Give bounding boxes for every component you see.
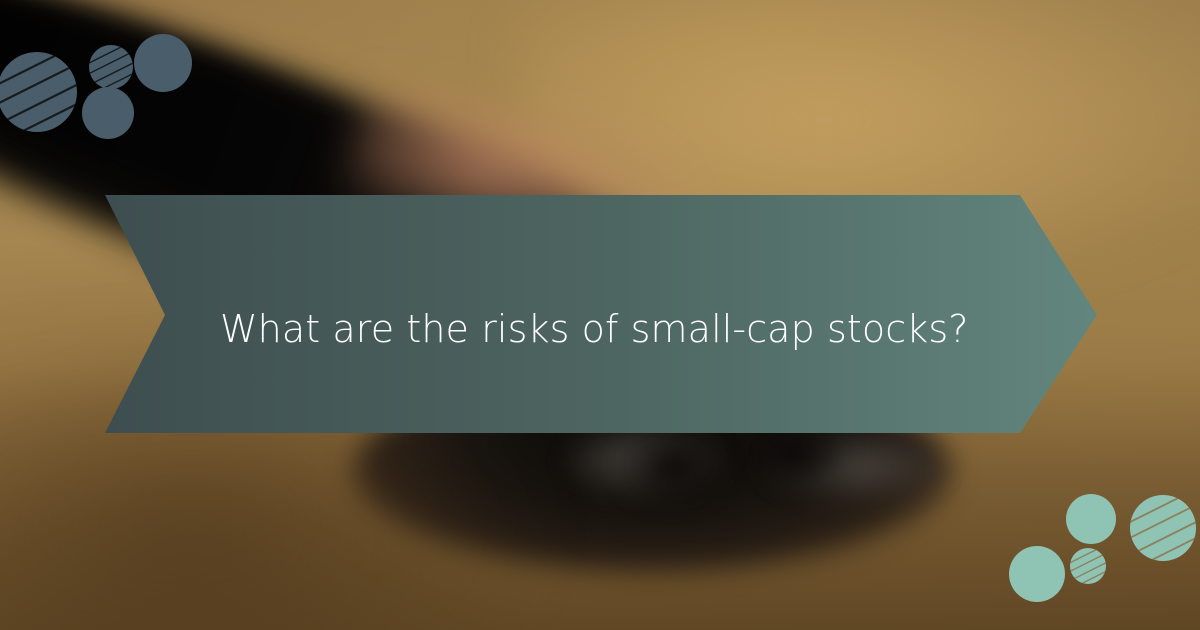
decorative-circle-br-small-striped — [1070, 548, 1106, 584]
decorative-circle-tl-small-striped — [89, 45, 133, 89]
decorative-circle-br-large-plain — [1009, 546, 1065, 602]
banner-canvas: What are the risks of small-cap stocks? — [0, 0, 1200, 630]
decorative-circle-br-large-striped — [1130, 495, 1196, 561]
decorative-circle-tl-medium-plain — [82, 87, 134, 139]
decorative-circle-tl-large-plain — [134, 34, 192, 92]
decorative-circle-tl-large-striped — [0, 52, 77, 132]
banner-headline: What are the risks of small-cap stocks? — [220, 305, 1040, 353]
decorative-circle-br-medium-plain — [1066, 494, 1116, 544]
